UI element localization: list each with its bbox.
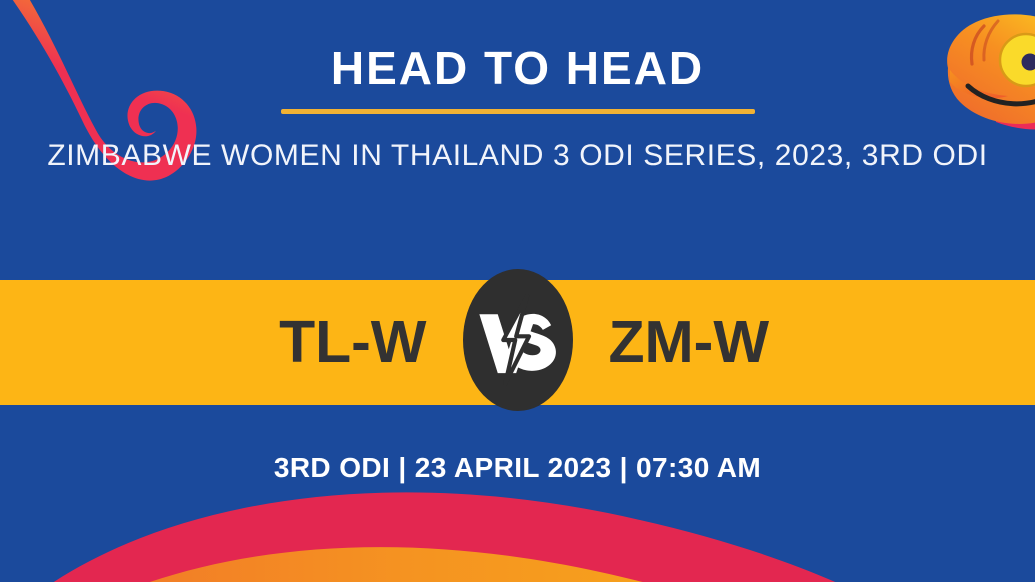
page-title: HEAD TO HEAD	[0, 44, 1035, 92]
match-meta-line: 3RD ODI | 23 APRIL 2023 | 07:30 AM	[0, 452, 1035, 484]
title-underline-rule	[281, 109, 755, 114]
series-subtitle: ZIMBABWE WOMEN IN THAILAND 3 ODI SERIES,…	[38, 136, 998, 176]
versus-lightning-icon	[472, 294, 564, 386]
away-team-short-name: ZM-W	[573, 313, 903, 372]
versus-badge	[463, 269, 573, 411]
home-team-short-name: TL-W	[133, 313, 463, 372]
banner-header: HEAD TO HEAD ZIMBABWE WOMEN IN THAILAND …	[0, 0, 1035, 176]
rainbow-arc-ornament-icon	[0, 492, 1035, 582]
head-to-head-banner: HEAD TO HEAD ZIMBABWE WOMEN IN THAILAND …	[0, 0, 1035, 582]
